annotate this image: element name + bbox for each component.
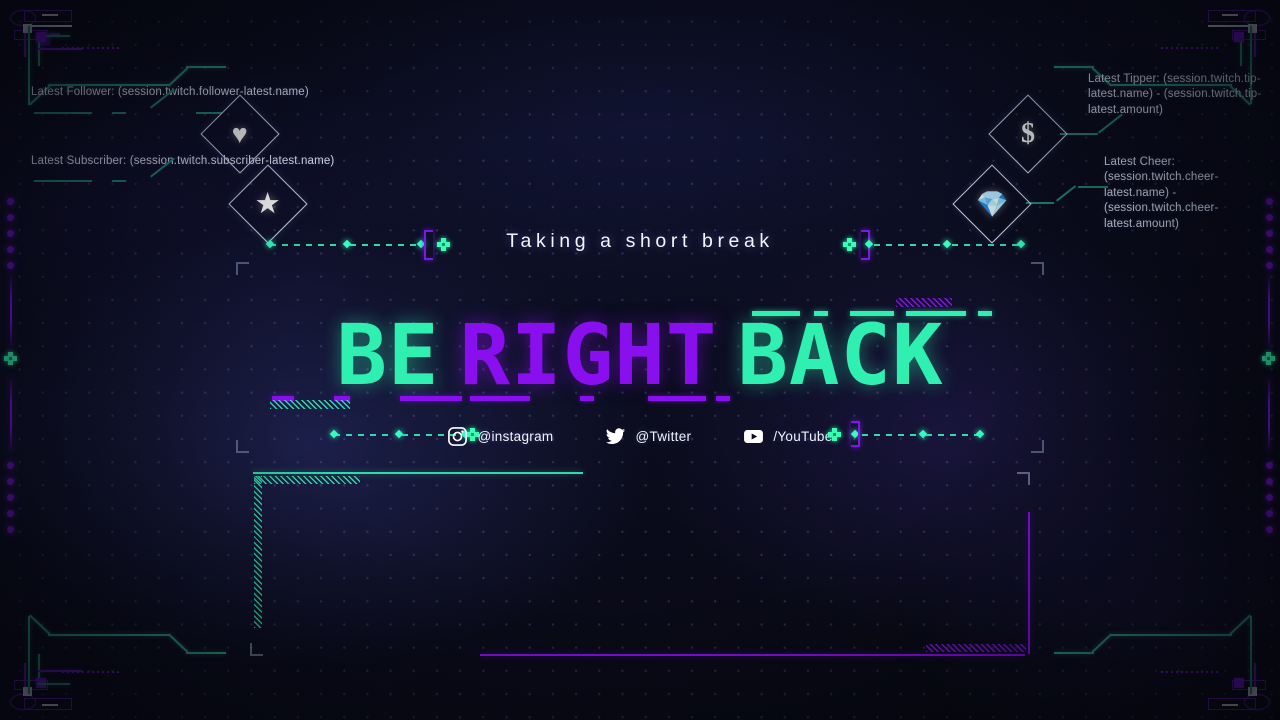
- circuit-decoration-bottom-right: [1070, 590, 1280, 720]
- gem-icon: 💎: [976, 191, 1008, 217]
- corner-bracket-top-left: [236, 262, 249, 275]
- title-word-be: BE: [336, 306, 439, 404]
- social-links-bar: @instagram @Twitter /YouTube: [0, 419, 1280, 453]
- subtitle-text: Taking a short break: [0, 230, 1280, 253]
- content-frame: [250, 472, 1030, 656]
- frame-corner-top-right: [1017, 472, 1030, 485]
- page-title: BERIGHTBACK: [0, 306, 1280, 404]
- instagram-icon: [447, 426, 468, 447]
- dollar-icon: $: [1021, 120, 1035, 148]
- frame-corner-bottom-left: [250, 643, 263, 656]
- latest-subscriber-label: Latest Subscriber: (session.twitch.subsc…: [31, 154, 334, 169]
- social-link-youtube[interactable]: /YouTube: [743, 426, 832, 447]
- heart-icon: ♥: [232, 121, 248, 148]
- dollar-badge: $: [988, 94, 1067, 173]
- star-icon: ★: [255, 190, 281, 219]
- circuit-decoration-top-left: [0, 0, 210, 130]
- latest-cheer-label: Latest Cheer: (session.twitch.cheer-late…: [1104, 155, 1274, 232]
- twitter-handle: @Twitter: [635, 429, 691, 444]
- social-link-twitter[interactable]: @Twitter: [605, 426, 691, 447]
- social-link-instagram[interactable]: @instagram: [447, 426, 553, 447]
- stream-overlay-scene: Latest Follower: (session.twitch.followe…: [0, 0, 1280, 720]
- circuit-decoration-bottom-left: [0, 590, 210, 720]
- title-word-back: BACK: [737, 306, 943, 404]
- latest-tipper-label: Latest Tipper: (session.twitch.tip-lates…: [1088, 72, 1274, 118]
- twitter-icon: [605, 426, 626, 447]
- instagram-handle: @instagram: [477, 429, 553, 444]
- title-word-right: RIGHT: [459, 306, 717, 404]
- corner-bracket-top-right: [1031, 262, 1044, 275]
- youtube-icon: [743, 426, 764, 447]
- youtube-handle: /YouTube: [773, 429, 832, 444]
